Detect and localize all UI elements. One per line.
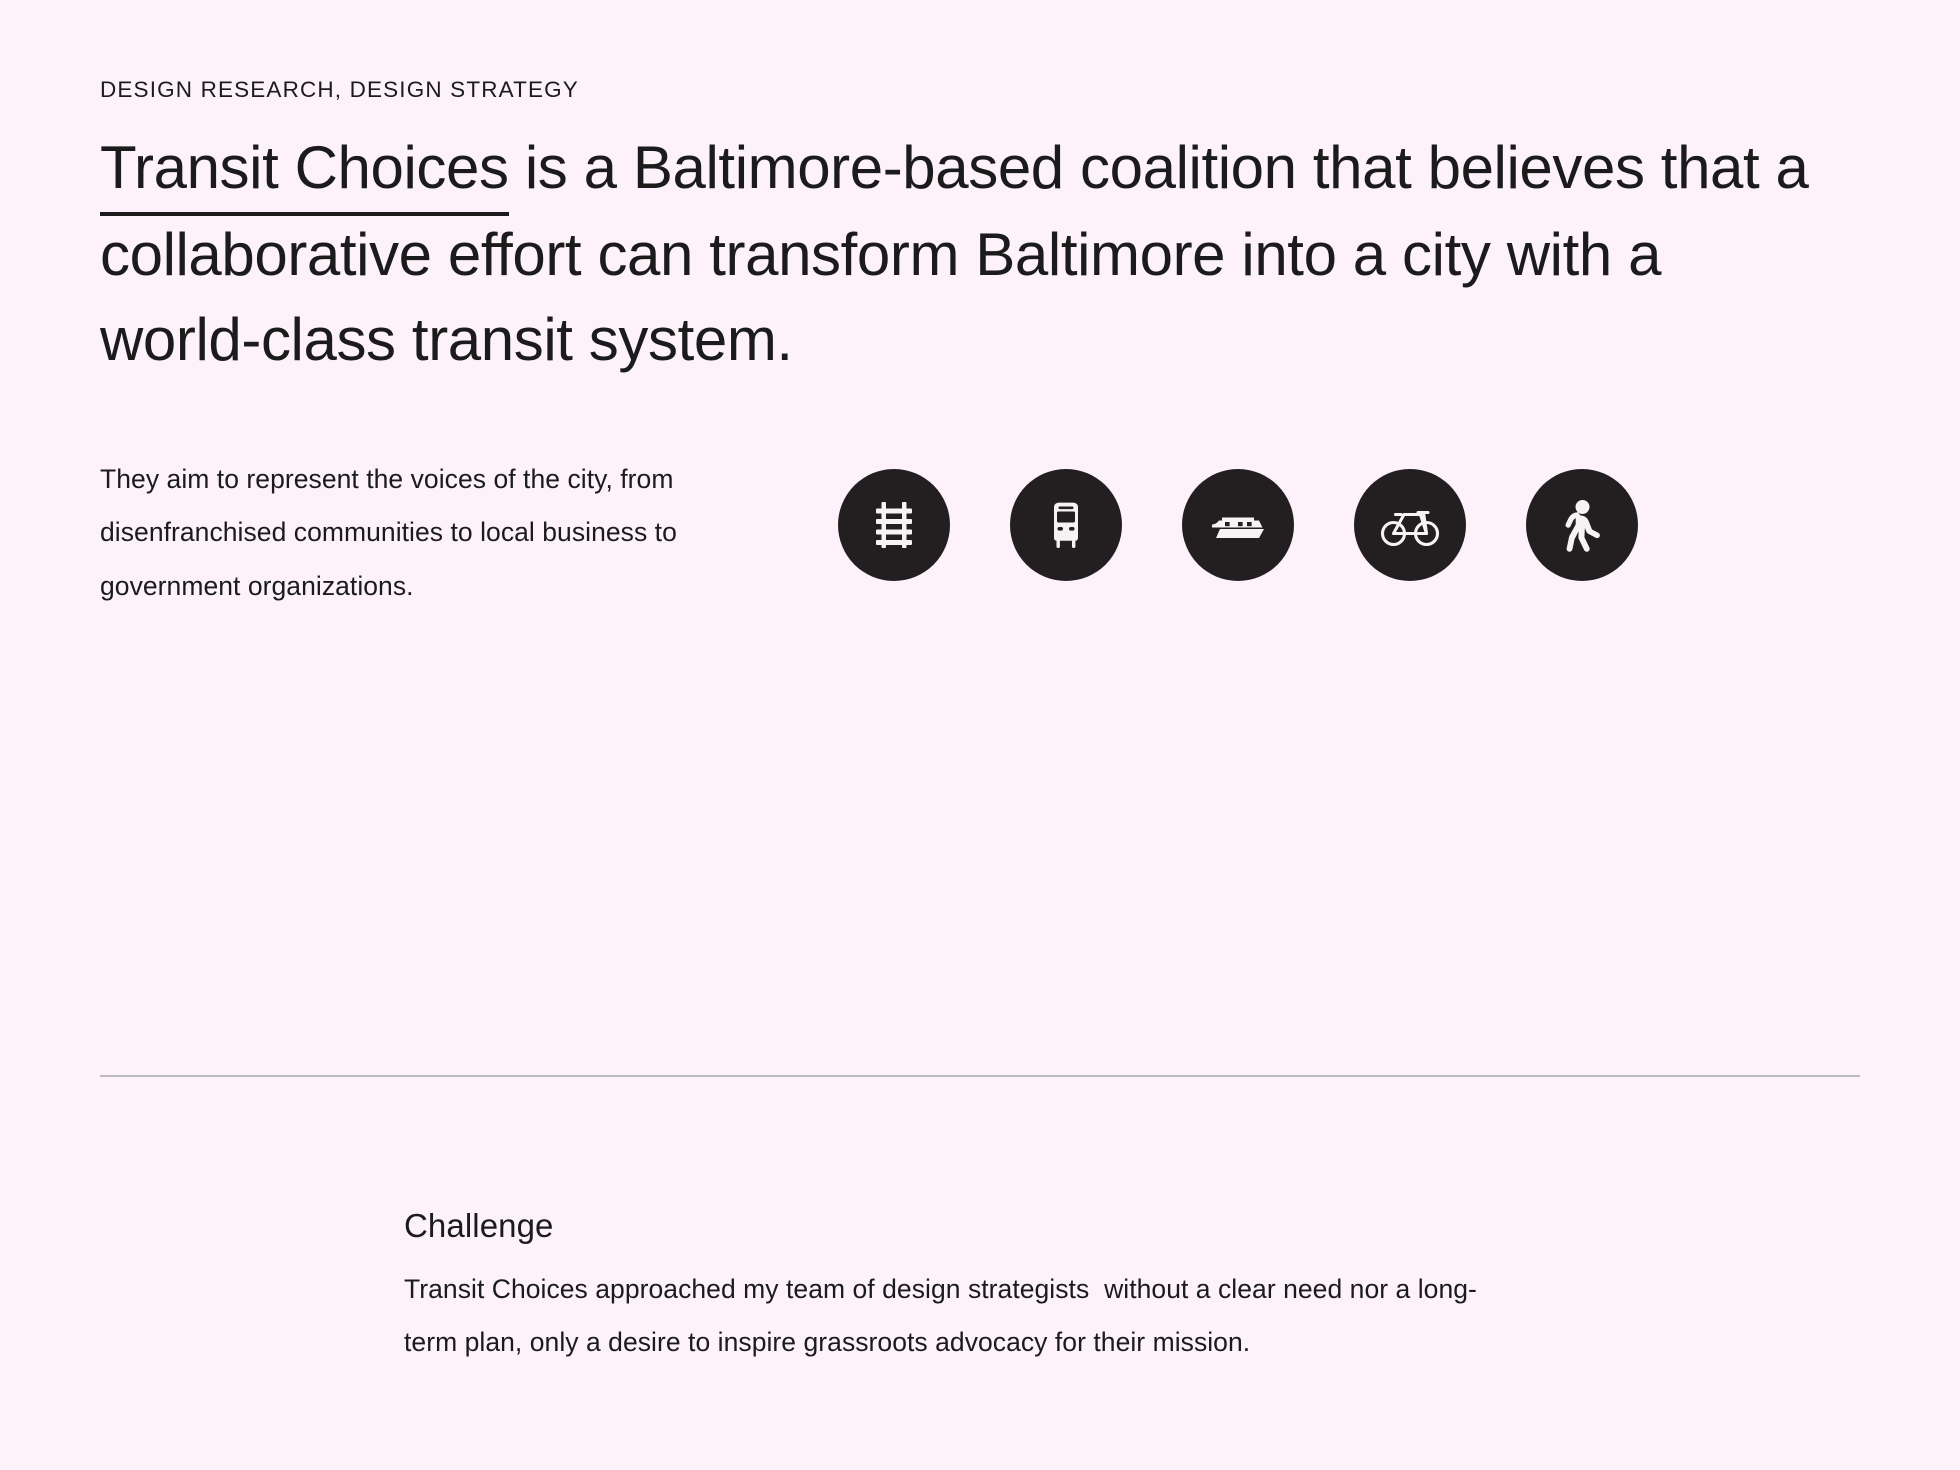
aim-paragraph: They aim to represent the voices of the … [100, 453, 790, 614]
challenge-title: Challenge [404, 1204, 1494, 1249]
rail-icon [838, 469, 950, 581]
section-divider [100, 1075, 1860, 1077]
transit-icon-row [838, 469, 1638, 581]
challenge-body: Transit Choices approached my team of de… [404, 1263, 1494, 1370]
challenge-section: Challenge Transit Choices approached my … [404, 1204, 1494, 1370]
case-study-page: DESIGN RESEARCH, DESIGN STRATEGY Transit… [0, 76, 1960, 1470]
bicycle-icon [1354, 469, 1466, 581]
page-headline: Transit Choices is a Baltimore-based coa… [100, 125, 1820, 383]
bus-icon [1010, 469, 1122, 581]
pedestrian-icon [1526, 469, 1638, 581]
transit-choices-link[interactable]: Transit Choices [100, 125, 509, 212]
intro-row: They aim to represent the voices of the … [100, 453, 1860, 614]
ferry-icon [1182, 469, 1294, 581]
category-eyebrow: DESIGN RESEARCH, DESIGN STRATEGY [100, 76, 1860, 103]
